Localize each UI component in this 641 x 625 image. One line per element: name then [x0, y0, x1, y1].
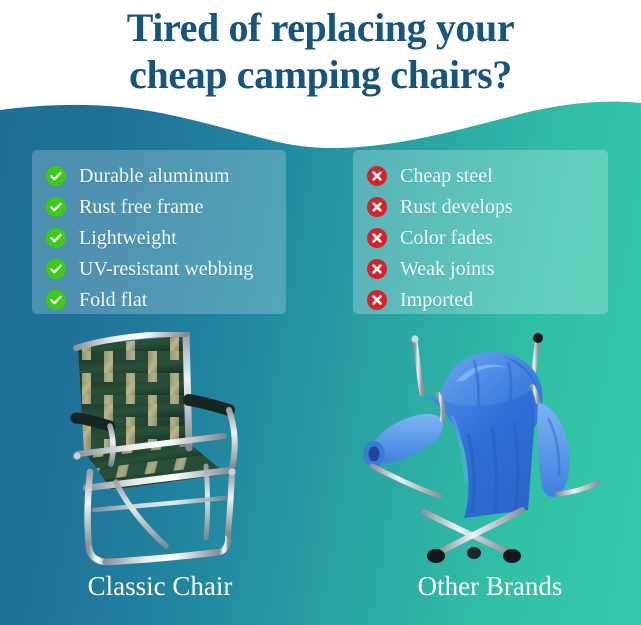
- check-circle-icon: [46, 197, 66, 217]
- list-item: Imported: [367, 284, 594, 315]
- cons-feature-panel: Cheap steel Rust develops Color fades: [353, 150, 608, 314]
- check-circle-icon: [46, 259, 66, 279]
- list-item-label: Color fades: [400, 227, 493, 249]
- pros-feature-panel: Durable aluminum Rust free frame Lightwe…: [32, 150, 286, 314]
- list-item-label: Cheap steel: [400, 165, 493, 187]
- list-item: UV-resistant webbing: [46, 253, 272, 284]
- headline-line-2: cheap camping chairs?: [0, 51, 641, 98]
- list-item: Durable aluminum: [46, 160, 272, 191]
- list-item-label: UV-resistant webbing: [79, 258, 253, 280]
- infographic-canvas: Tired of replacing your cheap camping ch…: [0, 0, 641, 625]
- cross-circle-icon: [367, 259, 387, 279]
- check-circle-icon: [46, 228, 66, 248]
- blue-fabric-folding-camp-chair-photo: [352, 330, 604, 572]
- list-item: Weak joints: [367, 253, 594, 284]
- list-item-label: Durable aluminum: [79, 165, 230, 187]
- list-item: Color fades: [367, 222, 594, 253]
- list-item-label: Rust develops: [400, 196, 513, 218]
- cross-circle-icon: [367, 290, 387, 310]
- list-item: Cheap steel: [367, 160, 594, 191]
- list-item: Rust develops: [367, 191, 594, 222]
- cross-circle-icon: [367, 166, 387, 186]
- list-item: Lightweight: [46, 222, 272, 253]
- list-item-label: Rust free frame: [79, 196, 203, 218]
- page-title: Tired of replacing your cheap camping ch…: [0, 4, 641, 98]
- check-circle-icon: [46, 166, 66, 186]
- right-product-caption: Other Brands: [350, 570, 630, 602]
- list-item-label: Imported: [400, 289, 473, 311]
- list-item-label: Fold flat: [79, 289, 147, 311]
- headline-line-1: Tired of replacing your: [0, 4, 641, 51]
- cross-circle-icon: [367, 197, 387, 217]
- list-item-label: Weak joints: [400, 258, 494, 280]
- list-item: Fold flat: [46, 284, 272, 315]
- list-item: Rust free frame: [46, 191, 272, 222]
- cross-circle-icon: [367, 228, 387, 248]
- list-item-label: Lightweight: [79, 227, 177, 249]
- check-circle-icon: [46, 290, 66, 310]
- aluminum-webbed-lawn-chair-photo: [56, 332, 288, 572]
- left-product-caption: Classic Chair: [20, 570, 300, 602]
